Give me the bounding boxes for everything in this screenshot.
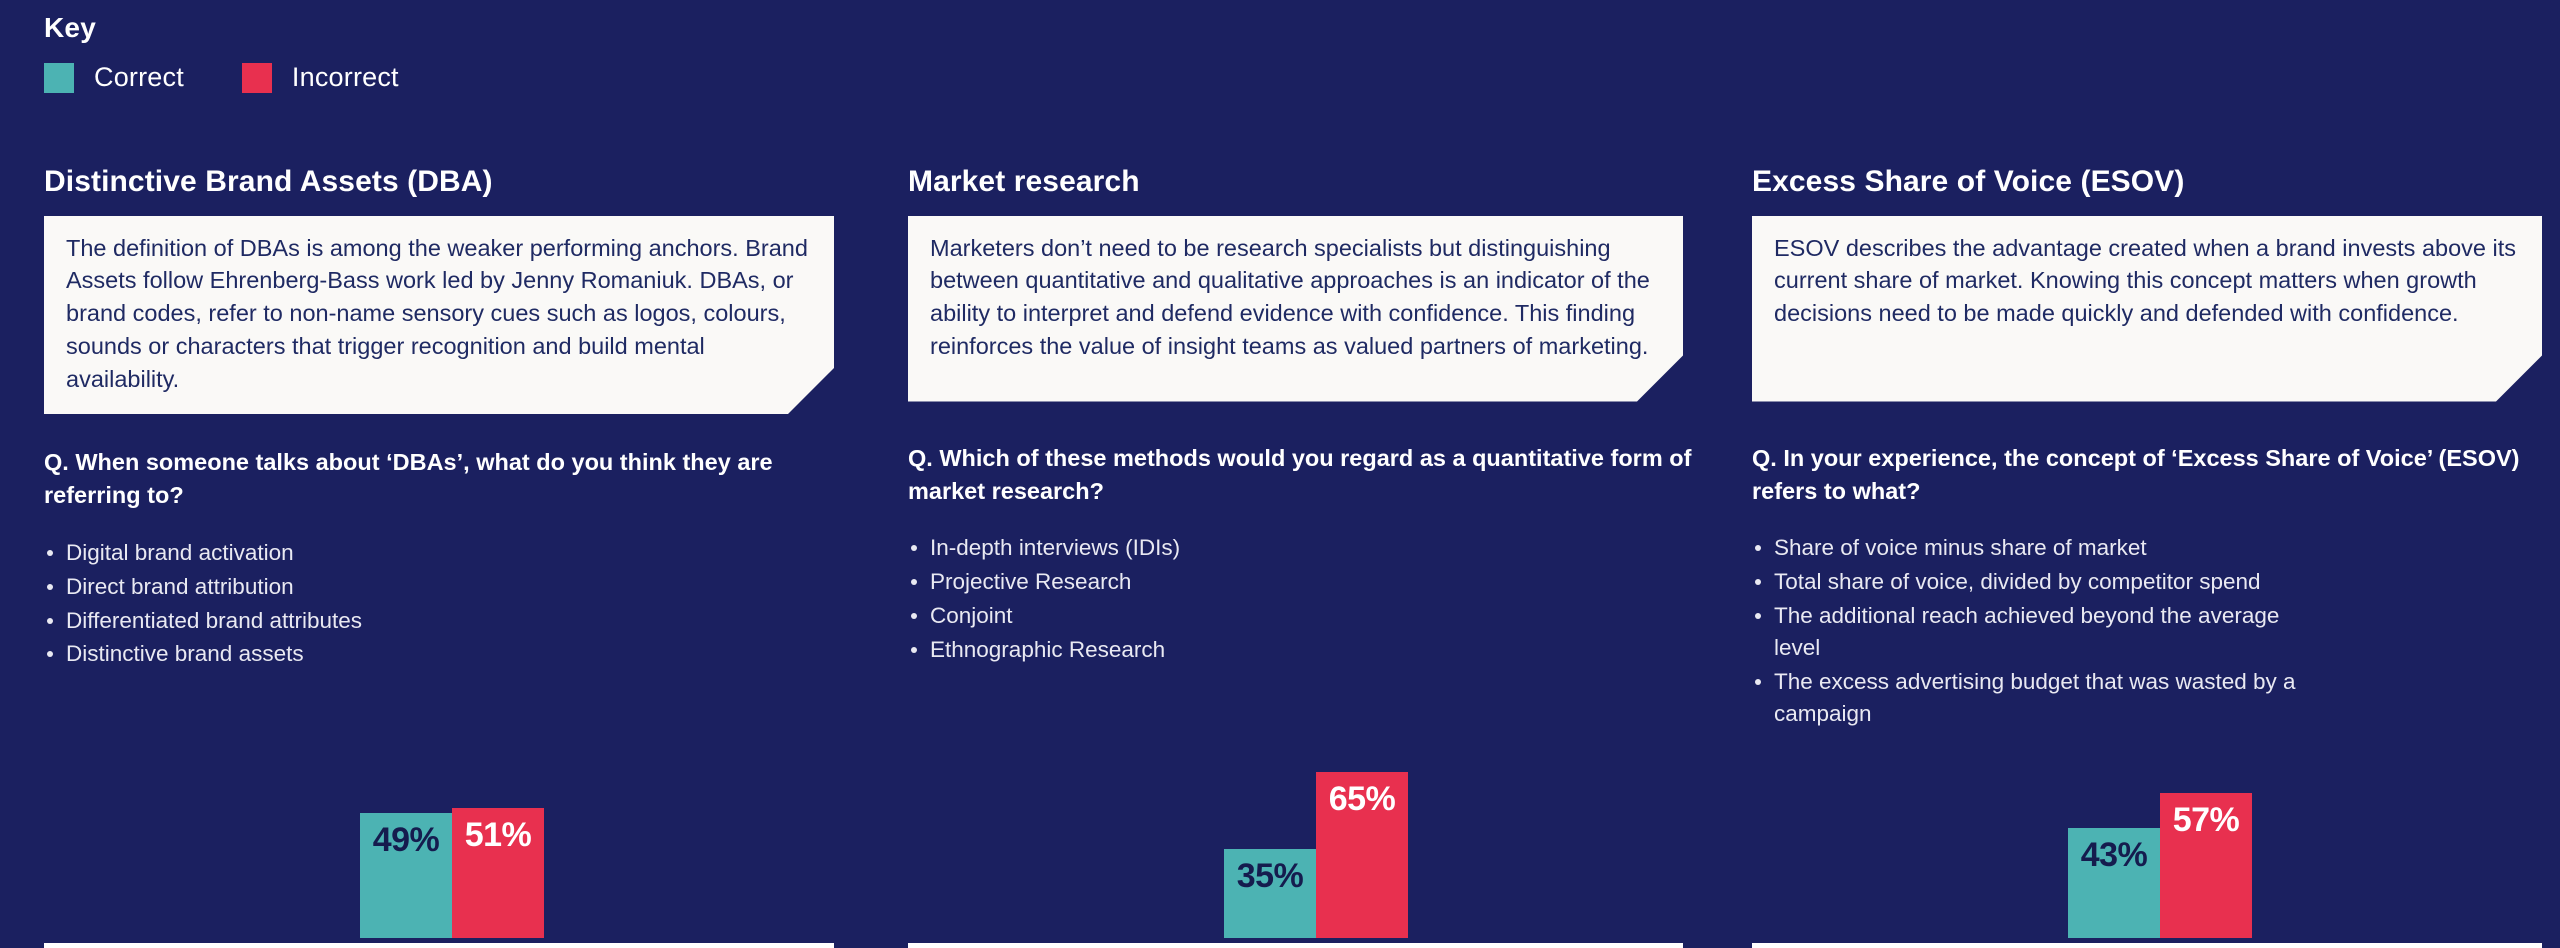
bar-fill-correct: 35%	[1224, 849, 1316, 938]
bar-value-correct: 43%	[2068, 836, 2160, 875]
bar-value-incorrect: 65%	[1316, 780, 1408, 819]
column-dba: Distinctive Brand Assets (DBA) The defin…	[44, 165, 834, 948]
column-title: Excess Share of Voice (ESOV)	[1752, 165, 2542, 200]
bar-value-correct: 35%	[1224, 857, 1316, 896]
chart-baseline	[44, 943, 834, 948]
chart-plot: 43% 57%	[1752, 538, 2542, 938]
legend-label-incorrect: Incorrect	[292, 62, 399, 93]
column-market-research: Market research Marketers don’t need to …	[908, 165, 1698, 948]
legend-swatch-incorrect-icon	[242, 63, 272, 93]
bar-incorrect: 65%	[1316, 772, 1408, 938]
bar-correct: 43%	[2068, 828, 2160, 938]
legend-items: Correct Incorrect	[44, 62, 399, 93]
chart-baseline	[1752, 943, 2542, 948]
column-title: Distinctive Brand Assets (DBA)	[44, 165, 834, 200]
callout-text: The definition of DBAs is among the weak…	[66, 232, 808, 396]
callout-text: Marketers don’t need to be research spec…	[930, 232, 1657, 364]
bar-fill-correct: 43%	[2068, 828, 2160, 938]
bar-fill-incorrect: 51%	[452, 808, 544, 938]
question-text: Q. When someone talks about ‘DBAs’, what…	[44, 446, 834, 513]
legend-key: Key Correct Incorrect	[44, 12, 399, 93]
bar-correct: 49%	[360, 813, 452, 938]
legend-title: Key	[44, 12, 399, 44]
question-text: Q. In your experience, the concept of ‘E…	[1752, 442, 2542, 509]
chart-plot: 49% 51%	[44, 538, 834, 938]
callout-text: ESOV describes the advantage created whe…	[1774, 232, 2516, 331]
callout-box: ESOV describes the advantage created whe…	[1752, 216, 2542, 402]
callout-box: Marketers don’t need to be research spec…	[908, 216, 1683, 402]
bar-incorrect: 51%	[452, 808, 544, 938]
callout-box: The definition of DBAs is among the weak…	[44, 216, 834, 414]
bar-incorrect: 57%	[2160, 793, 2252, 938]
bar-correct: 35%	[1224, 849, 1316, 938]
bar-fill-incorrect: 65%	[1316, 772, 1408, 938]
bar-value-correct: 49%	[360, 821, 452, 860]
legend-label-correct: Correct	[94, 62, 184, 93]
chart-baseline	[908, 943, 1683, 948]
legend-swatch-correct-icon	[44, 63, 74, 93]
legend-item-correct: Correct	[44, 62, 184, 93]
legend-item-incorrect: Incorrect	[242, 62, 399, 93]
bar-value-incorrect: 51%	[452, 816, 544, 855]
bar-chart: 43% 57%	[1752, 528, 2542, 948]
chart-plot: 35% 65%	[908, 538, 1698, 938]
column-title: Market research	[908, 165, 1698, 200]
bar-fill-correct: 49%	[360, 813, 452, 938]
question-text: Q. Which of these methods would you rega…	[908, 442, 1698, 509]
bar-fill-incorrect: 57%	[2160, 793, 2252, 938]
bar-chart: 35% 65%	[908, 528, 1698, 948]
bar-chart: 49% 51%	[44, 528, 834, 948]
column-esov: Excess Share of Voice (ESOV) ESOV descri…	[1752, 165, 2542, 948]
columns-container: Distinctive Brand Assets (DBA) The defin…	[0, 165, 2560, 948]
bar-value-incorrect: 57%	[2160, 801, 2252, 840]
